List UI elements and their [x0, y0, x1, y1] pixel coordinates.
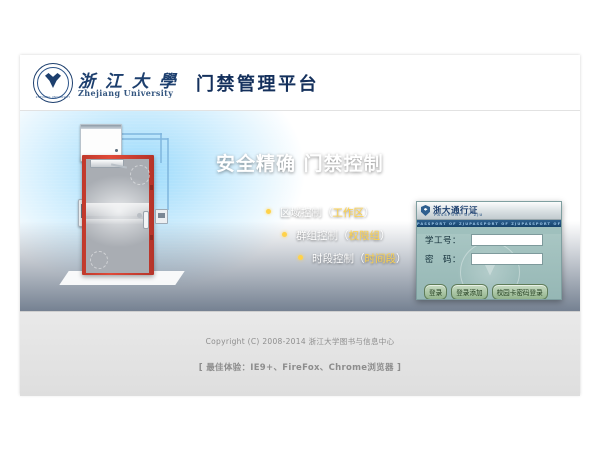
access-control-door: [82, 155, 154, 275]
page-title: 门禁管理平台: [196, 70, 319, 96]
access-control-illustration: [42, 111, 202, 311]
bullet-dot-icon: [266, 209, 271, 214]
wire-controller-right-a: [120, 133, 162, 135]
login-button-row: 登录 登录添加 校园卡密码登录: [424, 284, 548, 300]
password-input[interactable]: [471, 253, 543, 265]
login-panel: 浙大通行证 PASSPORT OF ZJU PASSPORT OF ZJU PA…: [416, 201, 562, 300]
exit-button: [155, 209, 168, 224]
campus-card-login-button[interactable]: 校园卡密码登录: [492, 284, 548, 300]
controller-lid: [81, 125, 121, 129]
app-page: ZHEJIANG UNIVERSITY 浙 江 大 學 Zhejiang Uni…: [20, 55, 580, 395]
browser-note: [ 最佳体验：IE9+、FireFox、Chrome浏览器 ]: [20, 347, 580, 373]
login-add-button[interactable]: 登录添加: [451, 284, 487, 300]
gear-decoration-icon: [90, 251, 108, 269]
bullet-dot-icon: [282, 232, 287, 237]
login-panel-titlebar: 浙大通行证 PASSPORT OF ZJU: [417, 202, 561, 220]
username-label: 学工号：: [425, 234, 471, 246]
passport-strip: PASSPORT OF ZJU PASSPORT OF ZJU PASSPORT…: [417, 220, 561, 227]
door-closer: [90, 159, 124, 168]
username-input[interactable]: [471, 234, 543, 246]
login-form: 学工号： 密 码： 登录 登录添加 校园卡密码登录: [417, 234, 561, 300]
door-highlight-band-2: [86, 219, 149, 224]
hero-banner: 安全精确 门禁控制 区域控制（工作区） 群组控制（权限组） 时段控制（时间段） …: [20, 111, 580, 311]
copyright-text: Copyright (C) 2008-2014 浙江大学图书与信息中心: [20, 312, 580, 347]
login-title-en: PASSPORT OF ZJU: [434, 213, 483, 217]
site-header: ZHEJIANG UNIVERSITY 浙 江 大 學 Zhejiang Uni…: [20, 55, 580, 111]
username-row: 学工号：: [425, 234, 561, 246]
hero-slogan: 安全精确 门禁控制: [216, 149, 384, 176]
password-label: 密 码：: [425, 253, 471, 265]
wire-down-a: [160, 133, 162, 163]
logo-text-en: Zhejiang University: [78, 88, 173, 98]
password-row: 密 码：: [425, 253, 561, 265]
login-button[interactable]: 登录: [424, 284, 447, 300]
shield-icon: [421, 205, 430, 216]
gear-decoration-icon: [130, 165, 150, 185]
door-handle: [143, 211, 149, 229]
seal-arc-text: ZHEJIANG UNIVERSITY: [34, 96, 72, 99]
controller-led-icon: [115, 149, 118, 152]
zju-seal-icon: ZHEJIANG UNIVERSITY: [33, 63, 73, 103]
door-hinge: [150, 235, 153, 240]
bullet-dot-icon: [298, 255, 303, 260]
door-hinge: [150, 185, 153, 190]
site-footer: Copyright (C) 2008-2014 浙江大学图书与信息中心 [ 最佳…: [20, 311, 580, 396]
door-lock-icon: [137, 213, 142, 218]
wire-down-b: [167, 138, 169, 210]
